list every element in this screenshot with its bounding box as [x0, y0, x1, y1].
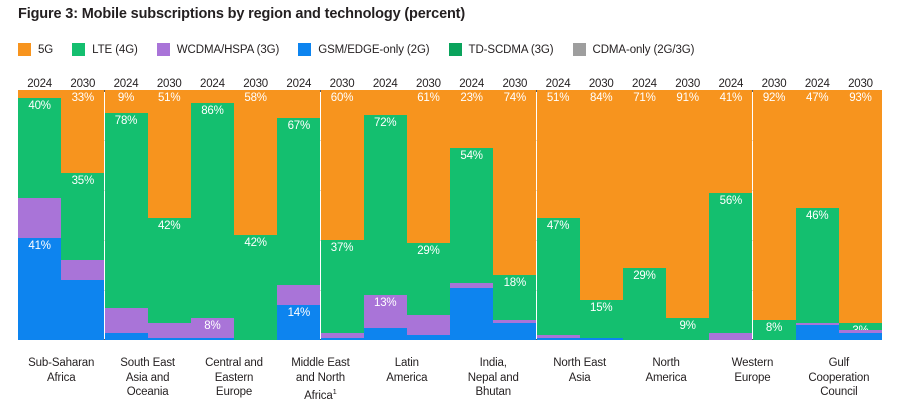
- bar-slot-2030: 92%8%: [752, 90, 795, 340]
- bar-group-9: 47%46%93%3%: [796, 90, 882, 340]
- bar-segment-5g[interactable]: [191, 90, 234, 103]
- bar-segment-5g[interactable]: 58%: [234, 90, 277, 235]
- bar-slot-2030: 91%9%: [666, 90, 709, 340]
- stacked-bar[interactable]: 47%46%: [796, 90, 839, 340]
- footnote-marker: 1: [333, 387, 337, 396]
- bar-segment-wcdma[interactable]: [61, 260, 104, 280]
- chart-plot-area: 2024203020242030202420302024203020242030…: [18, 70, 882, 350]
- legend-swatch-gsm: [298, 43, 311, 56]
- category-label-7: NorthAmerica: [623, 356, 709, 403]
- category-label-line: Bhutan: [450, 385, 536, 400]
- bar-slot-2030: 93%3%: [839, 90, 882, 340]
- legend-label-tdscdma: TD-SCDMA (3G): [469, 44, 554, 56]
- bar-slot-2030: 33%35%: [61, 90, 104, 340]
- year-pair-9: 20242030: [796, 70, 882, 90]
- year-pair-4: 20242030: [364, 70, 450, 90]
- legend-label-cdma: CDMA-only (2G/3G): [593, 44, 695, 56]
- segment-value-label: 47%: [537, 220, 580, 232]
- bar-slot-2030: 60%37%: [320, 90, 363, 340]
- category-label-line: Western: [709, 356, 795, 371]
- bar-segment-lte[interactable]: 78%: [105, 113, 148, 308]
- stacked-bar[interactable]: 40%41%: [18, 90, 61, 340]
- category-label-line: Gulf: [796, 356, 882, 371]
- segment-value-label: 60%: [321, 92, 364, 104]
- stacked-bar[interactable]: 58%42%: [234, 90, 277, 340]
- bar-segment-lte[interactable]: 29%: [623, 268, 666, 341]
- stacked-bar[interactable]: 93%3%: [839, 90, 882, 340]
- category-label-2: Central andEasternEurope: [191, 356, 277, 403]
- bar-segment-lte[interactable]: 54%: [450, 148, 493, 283]
- segment-value-label: 18%: [493, 277, 536, 289]
- year-pair-1: 20242030: [104, 70, 190, 90]
- year-pair-3: 20242030: [277, 70, 363, 90]
- year-label-2030: 2030: [493, 78, 536, 90]
- bar-group-1: 9%78%51%42%: [104, 90, 190, 340]
- bar-group-0: 40%41%33%35%: [18, 90, 104, 340]
- bar-slot-2030: 58%42%: [234, 90, 277, 340]
- bar-segment-lte[interactable]: 29%: [407, 243, 450, 316]
- bar-segment-5g[interactable]: 23%: [450, 90, 493, 148]
- category-label-line: Africa1: [277, 385, 363, 403]
- segment-value-label: 14%: [277, 307, 320, 319]
- bar-segment-5g[interactable]: 51%: [148, 90, 191, 218]
- bar-group-8: 41%56%92%8%: [709, 90, 795, 340]
- stacked-bar[interactable]: 91%9%: [666, 90, 709, 340]
- stacked-bar[interactable]: 51%42%: [148, 90, 191, 340]
- segment-value-label: 71%: [623, 92, 666, 104]
- category-label-line: Eastern: [191, 371, 277, 386]
- legend-swatch-5g: [18, 43, 31, 56]
- bar-segment-5g[interactable]: [364, 90, 407, 115]
- segment-value-label: 84%: [580, 92, 623, 104]
- stacked-bar[interactable]: 86%8%: [191, 90, 234, 340]
- bar-slot-2024: 23%54%: [450, 90, 493, 340]
- segment-value-label: 92%: [753, 92, 796, 104]
- bar-slot-2030: 84%15%: [580, 90, 623, 340]
- year-label-2024: 2024: [277, 78, 320, 90]
- stacked-bar[interactable]: 71%29%: [623, 90, 666, 340]
- bar-segment-gsm[interactable]: [580, 338, 623, 341]
- bar-segment-gsm[interactable]: [105, 333, 148, 341]
- legend-label-lte: LTE (4G): [92, 44, 138, 56]
- segment-value-label: 86%: [191, 105, 234, 117]
- bar-segment-lte[interactable]: 42%: [148, 218, 191, 323]
- bar-segment-lte[interactable]: 67%: [277, 118, 320, 286]
- bar-segment-gsm[interactable]: 14%: [277, 305, 320, 340]
- bar-segment-gsm[interactable]: [537, 338, 580, 341]
- category-label-line: Europe: [709, 371, 795, 386]
- category-label-line: Nepal and: [450, 371, 536, 386]
- bar-segment-wcdma[interactable]: [407, 315, 450, 335]
- category-label-1: South EastAsia andOceania: [104, 356, 190, 403]
- bar-segment-gsm[interactable]: [796, 325, 839, 340]
- figure-container: Figure 3: Mobile subscriptions by region…: [0, 0, 900, 420]
- bar-segment-gsm[interactable]: [61, 280, 104, 340]
- year-label-2030: 2030: [666, 78, 709, 90]
- bar-segment-gsm[interactable]: [148, 338, 191, 341]
- bar-slot-2024: 51%47%: [536, 90, 579, 340]
- year-label-2024: 2024: [364, 78, 407, 90]
- bar-segment-lte[interactable]: 42%: [234, 235, 277, 340]
- bar-segment-lte[interactable]: 86%: [191, 103, 234, 318]
- year-label-2030: 2030: [839, 78, 882, 90]
- category-label-9: GulfCooperationCouncil: [796, 356, 882, 403]
- year-label-2030: 2030: [61, 78, 104, 90]
- segment-value-label: 54%: [450, 150, 493, 162]
- stacked-bar[interactable]: 84%15%: [580, 90, 623, 340]
- category-label-line: Asia: [536, 371, 622, 386]
- bar-slot-2024: 86%8%: [191, 90, 234, 340]
- legend-item-5g[interactable]: 5G: [18, 43, 53, 56]
- year-label-2030: 2030: [752, 78, 795, 90]
- category-label-line: North: [623, 356, 709, 371]
- year-label-2024: 2024: [18, 78, 61, 90]
- segment-value-label: 41%: [18, 240, 61, 252]
- category-label-5: India,Nepal andBhutan: [450, 356, 536, 403]
- bar-segment-wcdma[interactable]: [277, 285, 320, 305]
- segment-value-label: 74%: [493, 92, 536, 104]
- year-pair-0: 20242030: [18, 70, 104, 90]
- bar-segment-5g[interactable]: 71%: [623, 90, 666, 268]
- bar-segment-5g[interactable]: 92%: [753, 90, 796, 320]
- stacked-bar[interactable]: 51%47%: [537, 90, 580, 340]
- year-label-2024: 2024: [536, 78, 579, 90]
- bar-segment-gsm[interactable]: [839, 333, 882, 341]
- segment-value-label: 9%: [105, 92, 148, 104]
- year-pair-2: 20242030: [191, 70, 277, 90]
- legend-swatch-cdma: [573, 43, 586, 56]
- category-label-line: Oceania: [104, 385, 190, 400]
- stacked-bar[interactable]: 33%35%: [61, 90, 104, 340]
- segment-value-label: 29%: [407, 245, 450, 257]
- year-label-2030: 2030: [407, 78, 450, 90]
- bar-segment-5g[interactable]: 84%: [580, 90, 623, 300]
- year-label-2030: 2030: [320, 78, 363, 90]
- year-label-2024: 2024: [796, 78, 839, 90]
- segment-value-label: 67%: [277, 120, 320, 132]
- stacked-bar[interactable]: 72%13%: [364, 90, 407, 340]
- stacked-bar[interactable]: 41%56%: [709, 90, 752, 340]
- category-label-line: and North: [277, 371, 363, 386]
- segment-value-label: 35%: [61, 175, 104, 187]
- bar-slot-2030: 74%18%: [493, 90, 536, 340]
- bar-segment-5g[interactable]: 91%: [666, 90, 709, 318]
- segment-value-label: 37%: [321, 242, 364, 254]
- bar-segment-gsm[interactable]: [364, 328, 407, 341]
- year-pair-5: 20242030: [450, 70, 536, 90]
- category-label-line: Africa: [18, 371, 104, 386]
- legend-swatch-lte: [72, 43, 85, 56]
- legend: 5GLTE (4G)WCDMA/HSPA (3G)GSM/EDGE-only (…: [18, 43, 713, 56]
- segment-value-label: 56%: [709, 195, 752, 207]
- legend-swatch-wcdma: [157, 43, 170, 56]
- year-label-2024: 2024: [191, 78, 234, 90]
- bar-group-5: 23%54%74%18%: [450, 90, 536, 340]
- bar-segment-gsm[interactable]: [321, 338, 364, 341]
- segment-value-label: 13%: [364, 297, 407, 309]
- category-label-line: America: [364, 371, 450, 386]
- bar-segment-5g[interactable]: 41%: [709, 90, 752, 193]
- bar-segment-lte[interactable]: 46%: [796, 208, 839, 323]
- bar-group-6: 51%47%84%15%: [536, 90, 622, 340]
- segment-value-label: 23%: [450, 92, 493, 104]
- bar-slot-2024: 71%29%: [623, 90, 666, 340]
- category-label-line: South East: [104, 356, 190, 371]
- bar-slot-2030: 61%29%: [407, 90, 450, 340]
- bar-segment-5g[interactable]: [277, 90, 320, 118]
- bar-slot-2024: 41%56%: [709, 90, 752, 340]
- bar-segment-lte[interactable]: 9%: [666, 318, 709, 341]
- category-label-line: Council: [796, 385, 882, 400]
- segment-value-label: 9%: [666, 320, 709, 332]
- year-label-2024: 2024: [709, 78, 752, 90]
- category-label-line: Cooperation: [796, 371, 882, 386]
- category-label-line: Central and: [191, 356, 277, 371]
- year-label-2030: 2030: [580, 78, 623, 90]
- segment-value-label: 46%: [796, 210, 839, 222]
- legend-label-5g: 5G: [38, 44, 53, 56]
- bar-segment-gsm[interactable]: [407, 335, 450, 340]
- category-label-3: Middle Eastand NorthAfrica1: [277, 356, 363, 403]
- bar-group-4: 72%13%61%29%: [364, 90, 450, 340]
- category-label-line: Middle East: [277, 356, 363, 371]
- bar-segment-gsm[interactable]: [493, 323, 536, 341]
- page-title: Figure 3: Mobile subscriptions by region…: [18, 6, 465, 22]
- year-label-2024: 2024: [104, 78, 147, 90]
- legend-item-cdma[interactable]: CDMA-only (2G/3G): [573, 43, 695, 56]
- stacked-bar[interactable]: 23%54%: [450, 90, 493, 340]
- stacked-bar[interactable]: 60%37%: [321, 90, 364, 340]
- category-label-0: Sub-SaharanAfrica: [18, 356, 104, 403]
- segment-value-label: 91%: [666, 92, 709, 104]
- segment-value-label: 58%: [234, 92, 277, 104]
- bar-segment-lte[interactable]: 8%: [753, 320, 796, 340]
- year-label-2030: 2030: [148, 78, 191, 90]
- year-pair-7: 20242030: [623, 70, 709, 90]
- bar-group-2: 86%8%58%42%: [191, 90, 277, 340]
- bar-slot-2024: 72%13%: [364, 90, 407, 340]
- bar-segment-lte[interactable]: 37%: [321, 240, 364, 333]
- bar-segment-gsm[interactable]: 41%: [18, 238, 61, 341]
- bar-groups: 40%41%33%35%9%78%51%42%86%8%58%42%67%14%…: [18, 90, 882, 340]
- segment-value-label: 8%: [191, 320, 234, 332]
- bar-segment-5g[interactable]: 33%: [61, 90, 104, 173]
- bar-segment-wcdma[interactable]: [18, 198, 61, 238]
- year-pair-8: 20242030: [709, 70, 795, 90]
- category-label-6: North EastAsia: [536, 356, 622, 403]
- segment-value-label: 15%: [580, 302, 623, 314]
- bar-segment-gsm[interactable]: [191, 338, 234, 341]
- category-label-line: North East: [536, 356, 622, 371]
- bar-segment-wcdma[interactable]: 13%: [364, 295, 407, 328]
- bar-slot-2024: 47%46%: [796, 90, 839, 340]
- year-label-2024: 2024: [623, 78, 666, 90]
- bar-segment-lte[interactable]: 56%: [709, 193, 752, 333]
- legend-item-gsm[interactable]: GSM/EDGE-only (2G): [298, 43, 429, 56]
- bar-segment-5g[interactable]: 9%: [105, 90, 148, 113]
- bar-segment-5g[interactable]: 61%: [407, 90, 450, 243]
- segment-value-label: 61%: [407, 92, 450, 104]
- bar-segment-5g[interactable]: 93%: [839, 90, 882, 323]
- bar-segment-wcdma[interactable]: [148, 323, 191, 338]
- legend-swatch-tdscdma: [449, 43, 462, 56]
- category-label-8: WesternEurope: [709, 356, 795, 403]
- category-label-line: Europe: [191, 385, 277, 400]
- bar-segment-5g[interactable]: 47%: [796, 90, 839, 208]
- segment-value-label: 42%: [234, 237, 277, 249]
- bar-segment-lte[interactable]: 35%: [61, 173, 104, 261]
- year-label-2030: 2030: [234, 78, 277, 90]
- bar-slot-2024: 40%41%: [18, 90, 61, 340]
- segment-value-label: 41%: [709, 92, 752, 104]
- bar-segment-lte[interactable]: 15%: [580, 300, 623, 338]
- bar-segment-wcdma[interactable]: [709, 333, 752, 341]
- bar-slot-2024: 9%78%: [104, 90, 147, 340]
- bar-group-3: 67%14%60%37%: [277, 90, 363, 340]
- category-label-line: Latin: [364, 356, 450, 371]
- bar-segment-5g[interactable]: 51%: [537, 90, 580, 218]
- stacked-bar[interactable]: 67%14%: [277, 90, 320, 340]
- segment-value-label: 93%: [839, 92, 882, 104]
- bar-segment-lte[interactable]: 40%: [18, 98, 61, 198]
- chart-grid: 40%41%33%35%9%78%51%42%86%8%58%42%67%14%…: [18, 90, 882, 340]
- bar-segment-wcdma[interactable]: [105, 308, 148, 333]
- stacked-bar[interactable]: 74%18%: [493, 90, 536, 340]
- segment-value-label: 33%: [61, 92, 104, 104]
- stacked-bar[interactable]: 9%78%: [105, 90, 148, 340]
- segment-value-label: 8%: [753, 322, 796, 334]
- category-label-line: Sub-Saharan: [18, 356, 104, 371]
- bar-segment-lte[interactable]: 3%: [839, 323, 882, 331]
- category-label-line: India,: [450, 356, 536, 371]
- year-pair-6: 20242030: [536, 70, 622, 90]
- segment-value-label: 51%: [537, 92, 580, 104]
- legend-label-gsm: GSM/EDGE-only (2G): [318, 44, 429, 56]
- bar-segment-lte[interactable]: 18%: [493, 275, 536, 320]
- segment-value-label: 72%: [364, 117, 407, 129]
- year-label-2024: 2024: [450, 78, 493, 90]
- category-label-line: America: [623, 371, 709, 386]
- year-axis-row: 2024203020242030202420302024203020242030…: [18, 70, 882, 90]
- stacked-bar[interactable]: 92%8%: [753, 90, 796, 340]
- bar-group-7: 71%29%91%9%: [623, 90, 709, 340]
- segment-value-label: 40%: [18, 100, 61, 112]
- category-label-4: LatinAmerica: [364, 356, 450, 403]
- bar-segment-lte[interactable]: 72%: [364, 115, 407, 295]
- legend-item-wcdma[interactable]: WCDMA/HSPA (3G): [157, 43, 279, 56]
- category-label-line: Asia and: [104, 371, 190, 386]
- bar-segment-wcdma[interactable]: 8%: [191, 318, 234, 338]
- legend-label-wcdma: WCDMA/HSPA (3G): [177, 44, 279, 56]
- segment-value-label: 78%: [105, 115, 148, 127]
- bar-segment-lte[interactable]: 47%: [537, 218, 580, 336]
- bar-segment-5g[interactable]: 74%: [493, 90, 536, 275]
- stacked-bar[interactable]: 61%29%: [407, 90, 450, 340]
- legend-item-tdscdma[interactable]: TD-SCDMA (3G): [449, 43, 554, 56]
- bar-slot-2030: 51%42%: [148, 90, 191, 340]
- bar-segment-5g[interactable]: [18, 90, 61, 98]
- segment-value-label: 47%: [796, 92, 839, 104]
- category-labels: Sub-SaharanAfricaSouth EastAsia andOcean…: [18, 356, 882, 403]
- legend-item-lte[interactable]: LTE (4G): [72, 43, 138, 56]
- bar-segment-5g[interactable]: 60%: [321, 90, 364, 240]
- segment-value-label: 29%: [623, 270, 666, 282]
- segment-value-label: 51%: [148, 92, 191, 104]
- segment-value-label: 42%: [148, 220, 191, 232]
- bar-segment-gsm[interactable]: [450, 288, 493, 341]
- bar-slot-2024: 67%14%: [277, 90, 320, 340]
